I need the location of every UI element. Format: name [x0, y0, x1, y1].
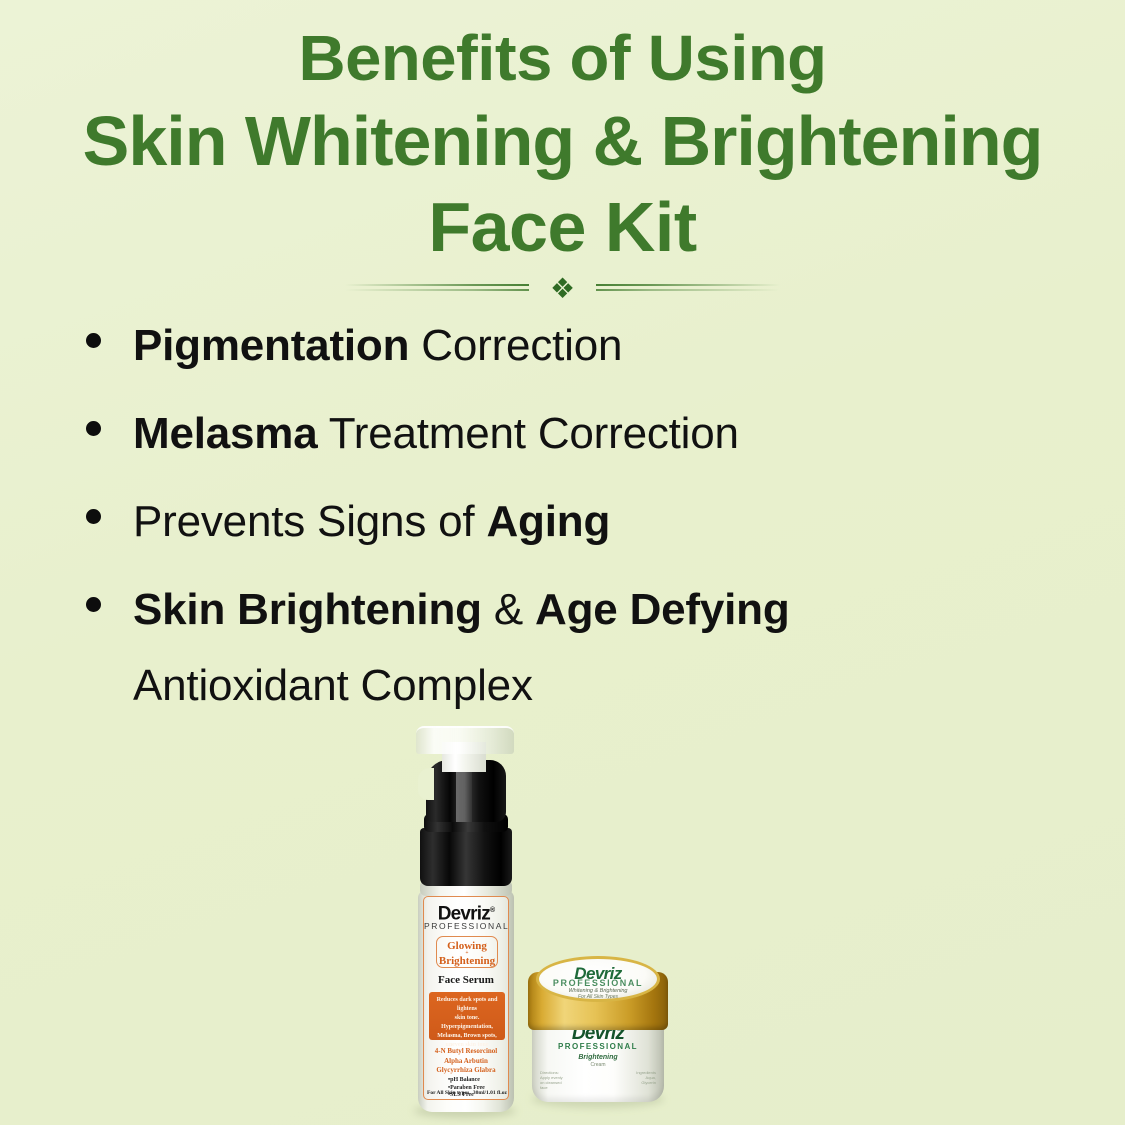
bullet-dot-icon	[86, 509, 101, 524]
bottle-overcap	[416, 726, 514, 754]
page-title: Benefits of Using Skin Whitening & Brigh…	[0, 18, 1125, 270]
benefit-text-4: Skin Brightening & Age Defying	[133, 579, 1038, 641]
benefit-text-1: Pigmentation Correction	[133, 315, 1038, 377]
claim-line: Melasma, Brown spots,	[432, 1032, 502, 1041]
bottle-label: Devriz® PROFESSIONAL Glowing + Brighteni…	[423, 896, 509, 1100]
benefit-4-amp: &	[482, 585, 535, 634]
jar-side-left-text: Directions: Apply evenly on cleansed fac…	[540, 1070, 566, 1090]
list-item: Pigmentation Correction	[78, 315, 1038, 377]
list-item: Prevents Signs of Aging	[78, 491, 1038, 553]
divider-line-left-top	[345, 284, 529, 286]
divider-line-left-bottom	[345, 289, 529, 291]
label-product-type: Face Serum	[424, 974, 508, 986]
list-item: Melasma Treatment Correction	[78, 403, 1038, 465]
label-volume: 30ml/1.01 fl.oz	[473, 1090, 507, 1096]
label-brand: Devriz®	[424, 901, 508, 923]
label-footer: For All Skin types 30ml/1.01 fl.oz	[427, 1090, 507, 1096]
benefit-4-bold-a: Skin Brightening	[133, 585, 482, 634]
title-line-2: Skin Whitening & Brightening	[0, 98, 1125, 184]
bullet-dot-icon	[86, 421, 101, 436]
free-from-line: •pH Balance	[448, 1077, 508, 1085]
active-line: Glycyrrhiza Glabra	[424, 1066, 508, 1076]
title-line-1: Benefits of Using	[0, 18, 1125, 98]
cream-jar: Devriz PROFESSIONAL Brightening Cream Di…	[528, 958, 668, 1108]
registered-icon: ®	[490, 907, 494, 914]
label-professional: PROFESSIONAL	[424, 922, 508, 931]
divider-ornament: ❖	[345, 272, 780, 306]
poster-canvas: Benefits of Using Skin Whitening & Brigh…	[0, 0, 1125, 1125]
jar-side-right-text: Ingredients Aqua, Glycerin	[630, 1070, 656, 1085]
label-claim-block: Reduces dark spots and lightens skin ton…	[429, 992, 505, 1040]
benefits-list: Pigmentation Correction Melasma Treatmen…	[78, 315, 1038, 717]
label-pill: Glowing + Brightening	[436, 936, 498, 968]
bottle-neck	[420, 828, 512, 886]
benefit-1-rest: Correction	[409, 321, 622, 370]
benefit-2-rest: Treatment Correction	[317, 409, 738, 458]
pump-nozzle-cut	[418, 768, 434, 800]
benefit-3-bold: Aging	[486, 497, 610, 546]
jar-body-sub2: Cream	[532, 1062, 664, 1068]
benefit-4-bold-b: Age Defying	[535, 585, 790, 634]
benefit-text-3: Prevents Signs of Aging	[133, 491, 1038, 553]
bullet-dot-icon	[86, 597, 101, 612]
label-skin-type: For All Skin types	[427, 1090, 469, 1096]
benefit-2-bold: Melasma	[133, 409, 317, 458]
divider-line-right-bottom	[596, 289, 780, 291]
label-actives: 4-N Butyl Resorcinol Alpha Arbutin Glycy…	[424, 1047, 508, 1076]
list-item: Skin Brightening & Age Defying	[78, 579, 1038, 641]
label-free-from: •pH Balance •Paraben Free •SLS Free	[448, 1077, 508, 1100]
label-pill-line2: Brightening	[437, 955, 497, 967]
divider-line-right-top	[596, 284, 780, 286]
claim-line: skin tone. Hyperpigmentation,	[432, 1014, 502, 1032]
product-image: Devriz PROFESSIONAL Brightening Cream Di…	[390, 706, 690, 1125]
quatrefoil-icon: ❖	[546, 274, 579, 304]
active-line: Alpha Arbutin	[424, 1057, 508, 1067]
bullet-dot-icon	[86, 333, 101, 348]
title-line-3: Face Kit	[0, 184, 1125, 270]
benefit-3-plain: Prevents Signs of	[133, 497, 486, 546]
serum-bottle: Devriz® PROFESSIONAL Glowing + Brighteni…	[412, 718, 518, 1116]
jar-lid-professional: PROFESSIONAL	[539, 979, 657, 988]
benefit-1-bold: Pigmentation	[133, 321, 409, 370]
benefit-text-2: Melasma Treatment Correction	[133, 403, 1038, 465]
jar-body-sub: Brightening	[532, 1054, 664, 1062]
active-line: 4-N Butyl Resorcinol	[424, 1047, 508, 1057]
jar-body-professional: PROFESSIONAL	[532, 1043, 664, 1051]
claim-line: Reduces dark spots and lightens	[432, 996, 502, 1014]
jar-lid-top: Devriz PROFESSIONAL Whitening & Brighten…	[536, 956, 660, 1002]
